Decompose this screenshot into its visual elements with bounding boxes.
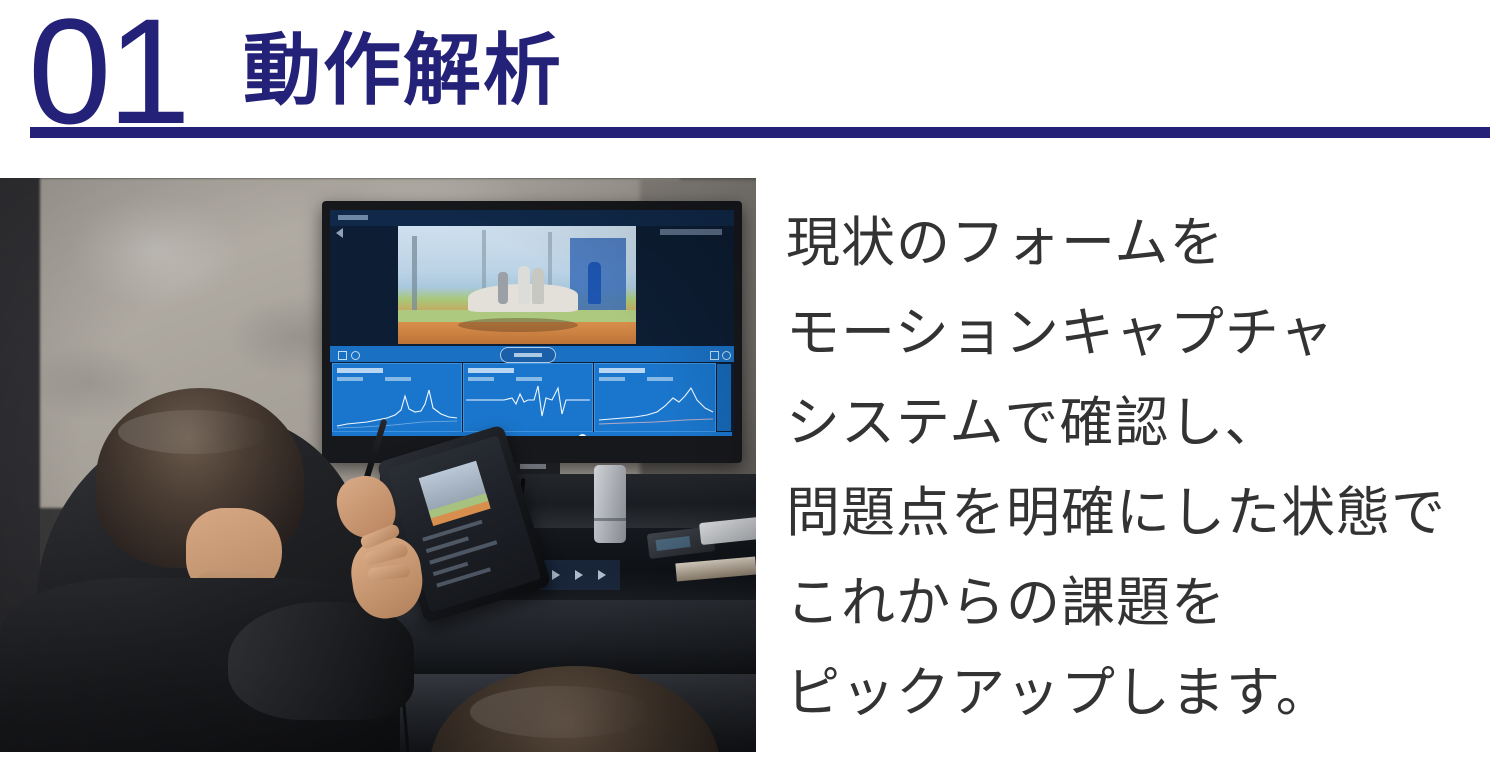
timeline-scrubber: [332, 432, 732, 436]
coach-arm: [228, 602, 414, 720]
control-arrow-1-icon: [552, 570, 560, 580]
person-white-1: [518, 266, 530, 304]
rig-post-1: [412, 236, 417, 310]
graph-panel-3: [594, 363, 716, 432]
page-title: 動作解析: [243, 30, 563, 112]
graph-1-title: [337, 368, 383, 373]
person-blue: [588, 262, 601, 304]
control-arrow-3-icon: [598, 570, 606, 580]
description-line-3: システムで確認し、: [786, 378, 1486, 468]
description-line-5: これからの課題を: [786, 558, 1486, 648]
frame-label-pill: [500, 347, 556, 363]
cylinder-speaker: [594, 465, 626, 543]
graph-2-title: [468, 368, 514, 373]
graph-3-side-axis: [717, 364, 731, 431]
person-white-2: [532, 268, 544, 304]
television-screen: [330, 210, 734, 436]
graph-3-trace: [595, 382, 715, 430]
back-chevron-icon: [336, 228, 343, 238]
description-line-6: ピックアップします。: [786, 648, 1486, 738]
settings-gear-icon: [722, 351, 731, 360]
mocap-video-frame: [398, 226, 636, 344]
graph-2-label-min: [468, 377, 494, 381]
description-line-2: モーションキャプチャ: [786, 288, 1486, 378]
graph-panel-1: [332, 363, 462, 432]
section-header: 01 動作解析: [0, 0, 1496, 165]
graph-panel-group: [332, 363, 732, 430]
speaker-seam: [594, 518, 626, 521]
graph-1-label-max: [385, 377, 411, 381]
person-gray: [498, 272, 508, 304]
graph-2-label-max: [516, 377, 542, 381]
app-top-bar: [330, 210, 734, 226]
graph-panel-2: [463, 363, 593, 432]
undo-icon: [338, 351, 347, 360]
tablet-data-row: [422, 520, 482, 542]
television-brand-mark: [520, 464, 546, 469]
subject-shadow: [458, 318, 578, 332]
description-line-1: 現状のフォームを: [786, 198, 1486, 288]
app-topbar-right-label: [660, 229, 722, 235]
header-underline-rule: [30, 127, 1490, 138]
scrubber-handle: [578, 434, 587, 436]
graph-3-label-max: [647, 377, 673, 381]
control-arrow-2-icon: [575, 570, 583, 580]
graph-3-label-min: [599, 377, 625, 381]
graph-2-trace: [464, 382, 592, 430]
tablet-data-row: [433, 562, 469, 576]
coaching-session-photo: [0, 178, 756, 752]
graph-1-trace: [333, 382, 461, 430]
section-number: 01: [28, 0, 187, 146]
graph-1-label-min: [337, 377, 363, 381]
graph-3-title: [599, 368, 645, 373]
description-text-block: 現状のフォームを モーションキャプチャ システムで確認し、 問題点を明確にした状…: [786, 198, 1486, 738]
expand-icon: [710, 351, 719, 360]
person-marker-icon: [351, 351, 360, 360]
description-line-4: 問題点を明確にした状態で: [786, 468, 1486, 558]
